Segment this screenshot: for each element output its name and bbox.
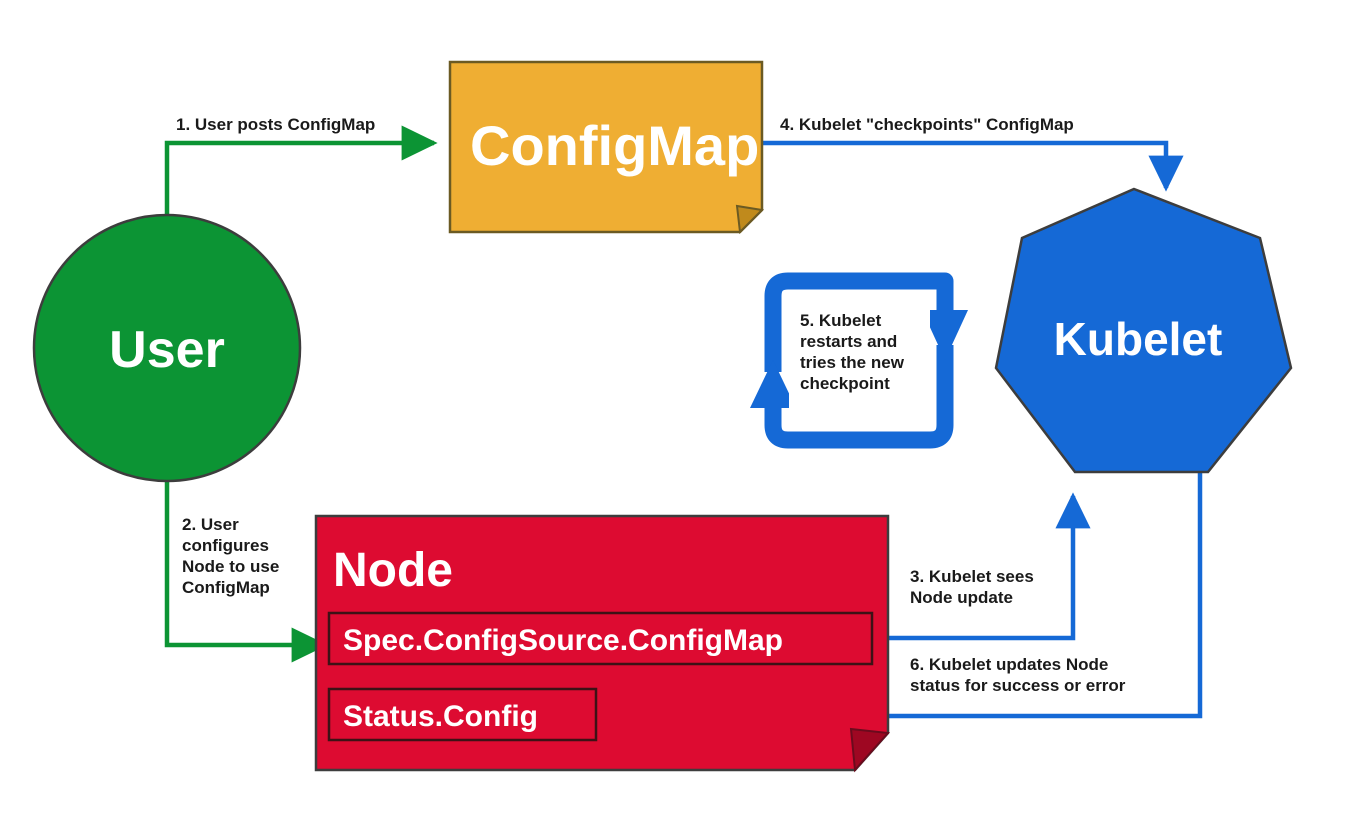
status-config-label: Status.Config: [343, 700, 538, 733]
edge-2-label-line-4: ConfigMap: [182, 578, 270, 597]
edge-2-label-line-1: 2. User: [182, 515, 239, 534]
flow-diagram: 1. User posts ConfigMap 2. User configur…: [0, 0, 1360, 818]
edge-5-label-line-4: checkpoint: [800, 374, 890, 393]
node-configmap[interactable]: ConfigMap: [450, 62, 762, 232]
edge-4-kubelet-checkpoints-configmap: 4. Kubelet "checkpoints" ConfigMap: [762, 115, 1166, 188]
edge-4-label: 4. Kubelet "checkpoints" ConfigMap: [780, 115, 1074, 134]
edge-5-kubelet-restart-loop: 5. Kubelet restarts and tries the new ch…: [750, 281, 968, 440]
diagram-canvas: 1. User posts ConfigMap 2. User configur…: [0, 0, 1360, 818]
user-label: User: [109, 321, 225, 379]
edge-6-label-line-1: 6. Kubelet updates Node: [910, 655, 1108, 674]
edge-3-label-line-1: 3. Kubelet sees: [910, 567, 1034, 586]
node-kubelet[interactable]: Kubelet: [996, 189, 1291, 472]
configmap-fold-icon: [737, 206, 762, 232]
spec-configsource-configmap-label: Spec.ConfigSource.ConfigMap: [343, 624, 783, 657]
edge-3-kubelet-sees-node-update: 3. Kubelet sees Node update: [872, 496, 1073, 638]
edge-2-label-line-2: configures: [182, 536, 269, 555]
node-user[interactable]: User: [34, 215, 300, 481]
edge-6-label: 6. Kubelet updates Node status for succe…: [910, 655, 1126, 695]
edge-3-label: 3. Kubelet sees Node update: [910, 567, 1039, 607]
edge-3-label-line-2: Node update: [910, 588, 1013, 607]
node-node[interactable]: Node Spec.ConfigSource.ConfigMap Status.…: [316, 516, 888, 770]
edge-2-label: 2. User configures Node to use ConfigMap: [182, 515, 284, 597]
edge-5-label-line-3: tries the new: [800, 353, 905, 372]
edge-1-label: 1. User posts ConfigMap: [176, 115, 375, 134]
node-fold-icon: [851, 729, 888, 770]
configmap-label: ConfigMap: [470, 114, 759, 177]
edge-5-label-line-1: 5. Kubelet: [800, 311, 882, 330]
edge-2-label-line-3: Node to use: [182, 557, 279, 576]
kubelet-label: Kubelet: [1054, 313, 1223, 365]
edge-6-label-line-2: status for success or error: [910, 676, 1126, 695]
edge-5-label-line-2: restarts and: [800, 332, 897, 351]
node-title: Node: [333, 544, 453, 597]
edge-4-path: [762, 143, 1166, 188]
